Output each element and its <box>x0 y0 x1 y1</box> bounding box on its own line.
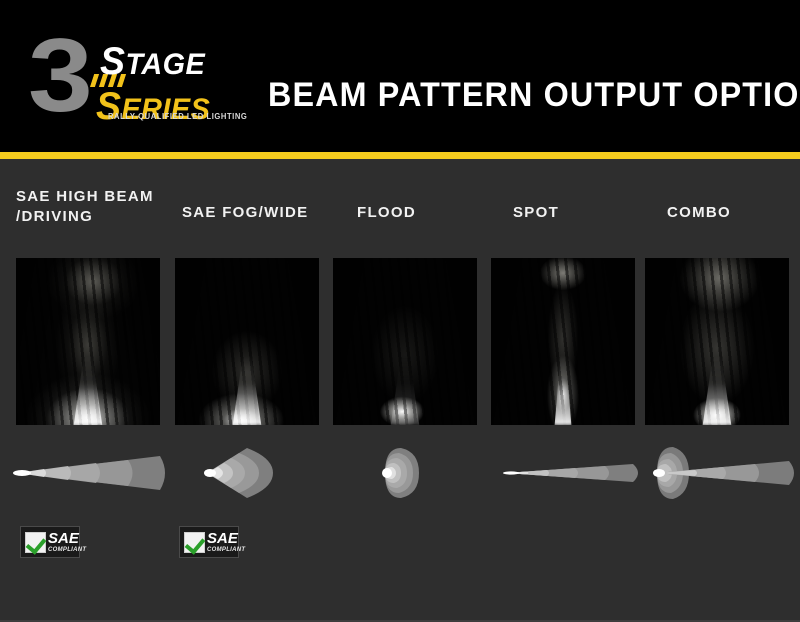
beam-photo <box>491 258 635 425</box>
badge-text: SAE COMPLIANT <box>48 531 86 553</box>
beam-diagram-spot <box>485 442 651 504</box>
logo-series-rest: ERIES <box>121 93 210 126</box>
column-spot: SPOT <box>491 159 643 622</box>
column-combo: COMBO <box>645 159 797 622</box>
logo-numeral-3: 3 <box>28 24 88 128</box>
beam-pattern-columns: SAE HIGH BEAM /DRIVING SAE <box>0 159 800 622</box>
page-title: BEAM PATTERN OUTPUT OPTIONS <box>268 76 800 115</box>
logo-stage-word: STAGE <box>100 42 244 81</box>
beam-photo <box>16 258 160 425</box>
logo-stage-rest: TAGE <box>125 48 205 81</box>
check-icon <box>25 532 46 553</box>
sae-compliant-badge: SAE COMPLIANT <box>20 526 80 558</box>
beam-diagram-flood <box>327 442 493 504</box>
beam-photo <box>333 258 477 425</box>
badge-secondary-label: COMPLIANT <box>207 547 245 553</box>
badge-text: SAE COMPLIANT <box>207 531 245 553</box>
check-icon <box>184 532 205 553</box>
beam-diagram-sae-fog-wide <box>169 442 335 504</box>
badge-secondary-label: COMPLIANT <box>48 547 86 553</box>
stage-series-logo: 3 STAGE SERIES RALLY-QUALIFIED LED LIGHT… <box>28 28 243 128</box>
header-bar: 3 STAGE SERIES RALLY-QUALIFIED LED LIGHT… <box>0 0 800 152</box>
badge-primary-label: SAE <box>207 531 245 546</box>
beam-photo <box>175 258 319 425</box>
column-header: SAE HIGH BEAM /DRIVING <box>16 187 181 227</box>
column-header: COMBO <box>667 203 800 223</box>
sae-compliant-badge: SAE COMPLIANT <box>179 526 239 558</box>
column-sae-high-beam-driving: SAE HIGH BEAM /DRIVING SAE <box>16 159 168 622</box>
beam-photo <box>645 258 789 425</box>
yellow-divider <box>0 152 800 159</box>
beam-diagram-combo <box>639 442 800 504</box>
logo-series-cap: S <box>96 85 121 128</box>
beam-pattern-chart: 3 STAGE SERIES RALLY-QUALIFIED LED LIGHT… <box>0 0 800 622</box>
logo-tagline: RALLY-QUALIFIED LED LIGHTING <box>108 112 247 121</box>
column-flood: FLOOD <box>333 159 485 622</box>
logo-stage-cap: S <box>100 40 125 83</box>
beam-diagram-sae-high-beam-driving <box>10 442 176 504</box>
badge-primary-label: SAE <box>48 531 86 546</box>
column-sae-fog-wide: SAE FOG/WIDE SAE <box>175 159 327 622</box>
column-header: SAE FOG/WIDE <box>182 203 347 223</box>
